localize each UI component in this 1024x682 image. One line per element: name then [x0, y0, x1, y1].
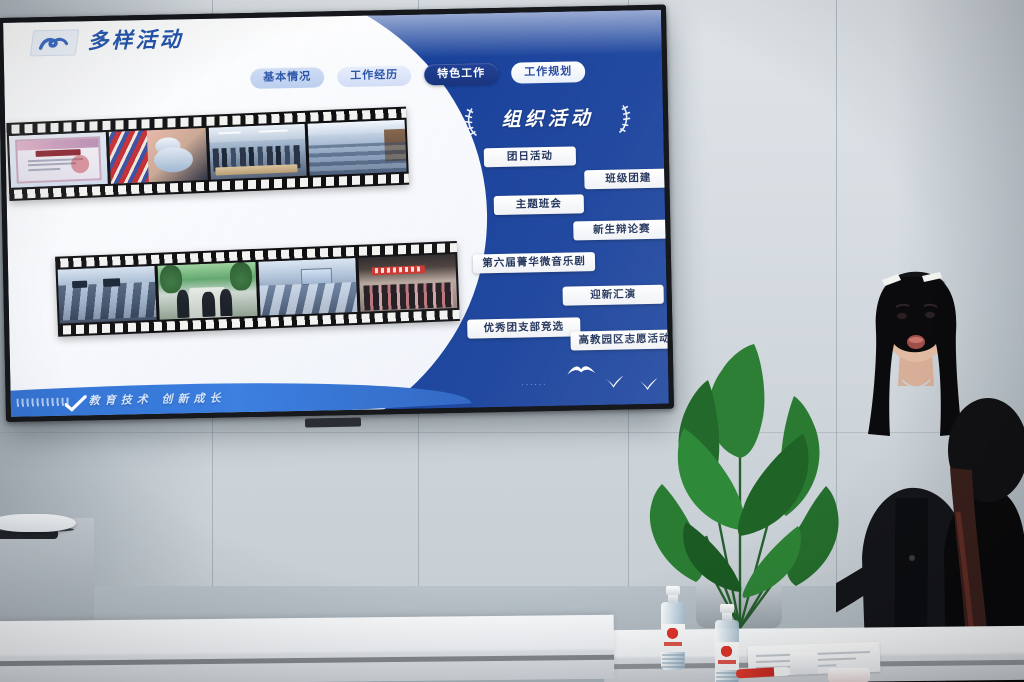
screenshot-root: 多样活动 基本情况 工作经历 特色工作 工作规划 — [0, 0, 1024, 682]
wall-mounted-tv: 多样活动 基本情况 工作经历 特色工作 工作规划 — [0, 5, 674, 422]
bottle-cap — [666, 586, 680, 595]
conference-table-front — [0, 615, 614, 682]
bottle-stripe — [718, 660, 736, 664]
cup-lid — [790, 652, 818, 674]
bottle-stripe — [664, 642, 682, 646]
tv-bezel — [0, 5, 674, 422]
table-edge — [0, 655, 614, 667]
round-side-table — [0, 514, 76, 554]
bottle-logo — [720, 646, 733, 659]
bottle-cap — [720, 604, 734, 613]
bottle-ribs — [716, 672, 738, 682]
bottle-neck — [668, 595, 678, 603]
bottle-ribs — [662, 654, 684, 668]
plant-leaves — [636, 330, 851, 630]
potted-plant — [636, 330, 851, 630]
tv-center-mount — [305, 417, 361, 427]
table-top — [0, 514, 76, 532]
water-bottle — [660, 586, 686, 670]
desk-item — [828, 668, 870, 682]
bottle-logo — [666, 628, 679, 641]
table-leg — [0, 531, 59, 539]
bottle-neck — [722, 613, 732, 621]
